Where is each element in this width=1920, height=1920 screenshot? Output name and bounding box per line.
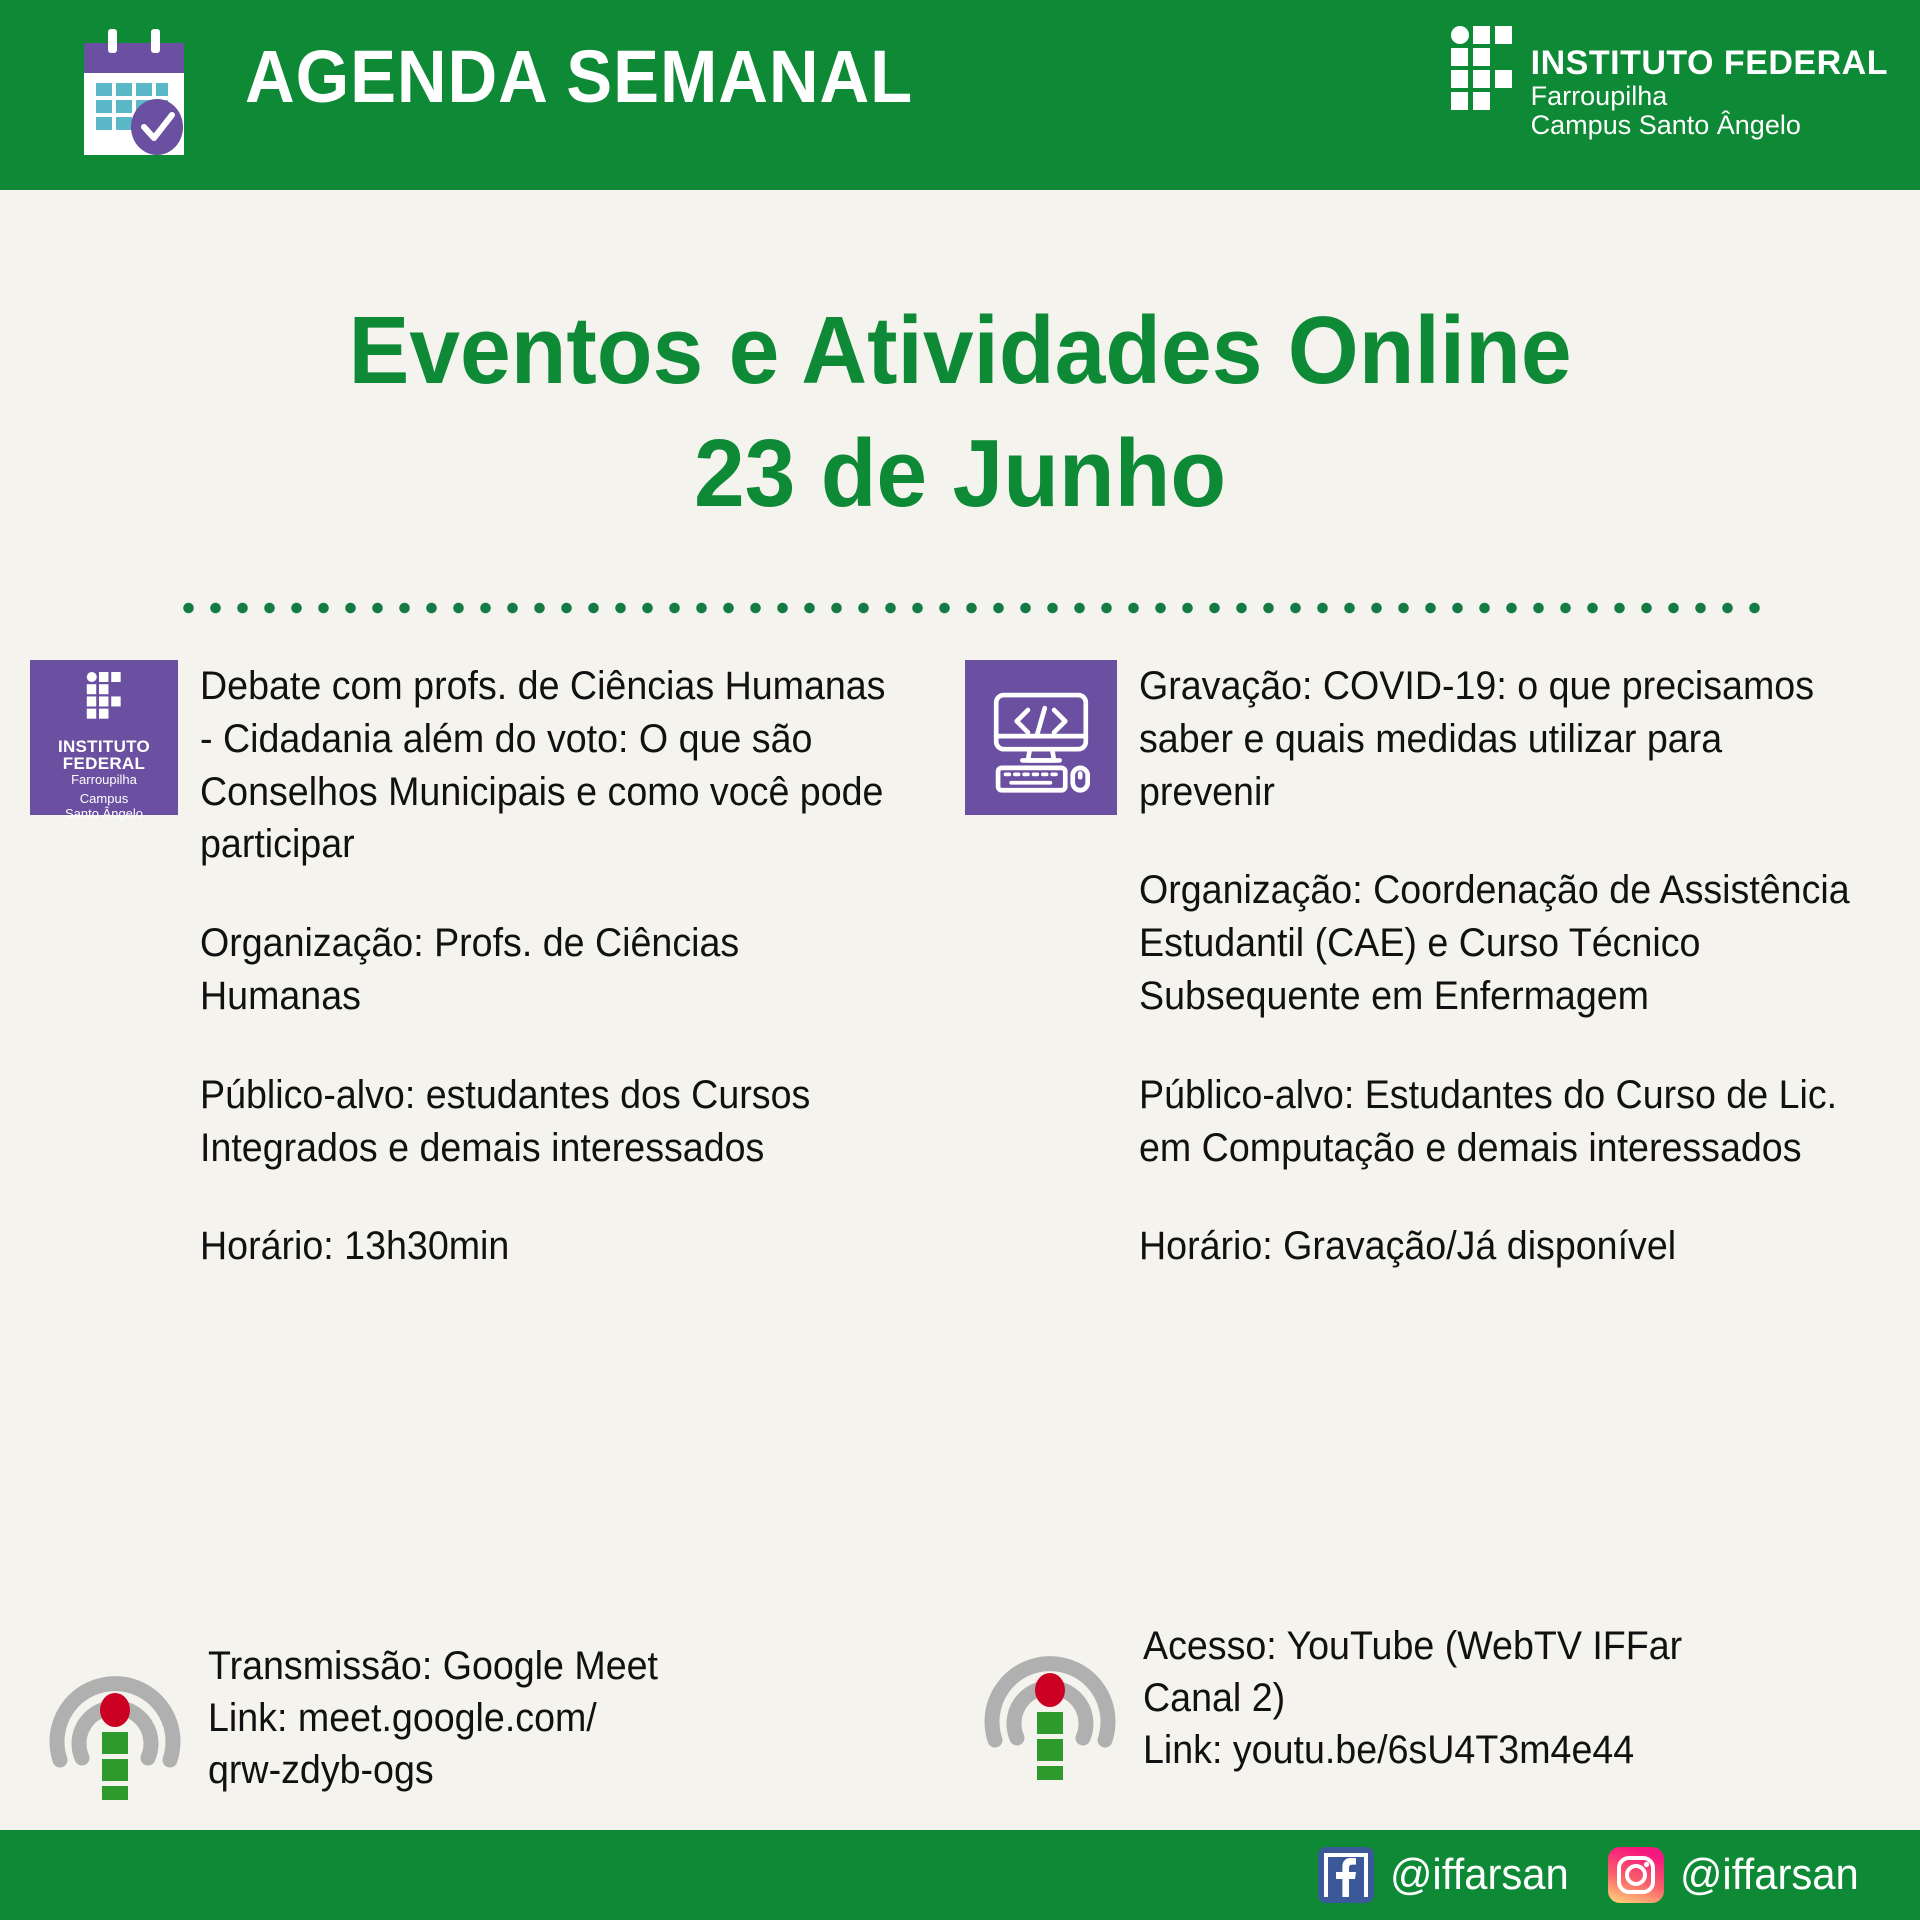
left-event-organization: Organização: Profs. de Ciências Humanas — [200, 917, 905, 1023]
page-footer: @iffarsan @iffarsan — [0, 1830, 1920, 1920]
page-title: AGENDA SEMANAL — [245, 34, 913, 119]
logo-line-campus: Campus Santo Ângelo — [1531, 112, 1888, 139]
left-broadcast-platform: Transmissão: Google Meet — [208, 1640, 866, 1692]
badge-line-instituto: INSTITUTO — [58, 738, 150, 755]
left-broadcast-details: Transmissão: Google Meet Link: meet.goog… — [208, 1640, 866, 1796]
right-broadcast-details: Acesso: YouTube (WebTV IFFar Canal 2) Li… — [1143, 1620, 1839, 1776]
badge-line-farroupilha: Farroupilha — [71, 773, 137, 787]
if-logo-mark-icon — [1451, 26, 1513, 134]
logo-line-farroupilha: Farroupilha — [1531, 83, 1888, 110]
instagram-social[interactable]: @iffarsan — [1608, 1847, 1868, 1903]
left-event-column: INSTITUTO FEDERAL Farroupilha Campus San… — [30, 660, 950, 1273]
logo-line-institute: INSTITUTO FEDERAL — [1531, 46, 1888, 80]
code-monitor-icon — [965, 660, 1117, 815]
if-logo-mark-icon — [78, 672, 130, 732]
left-event-details: Debate com profs. de Ciências Humanas - … — [200, 660, 905, 1273]
event-heading-line1: Eventos e Atividades Online — [48, 290, 1872, 413]
right-event-audience: Público-alvo: Estudantes do Curso de Lic… — [1139, 1069, 1850, 1175]
broadcast-signal-icon — [40, 1640, 190, 1800]
right-event-details: Gravação: COVID-19: o que precisamos sab… — [1139, 660, 1850, 1273]
left-event-title: Debate com profs. de Ciências Humanas - … — [200, 660, 905, 871]
facebook-social[interactable]: @iffarsan — [1318, 1847, 1578, 1903]
instagram-handle[interactable]: @iffarsan — [1680, 1850, 1859, 1900]
right-access-link[interactable]: Link: youtu.be/6sU4T3m4e44 — [1143, 1724, 1839, 1776]
if-campus-badge: INSTITUTO FEDERAL Farroupilha Campus San… — [30, 660, 178, 815]
badge-line-campus: Campus — [80, 792, 128, 807]
left-broadcast-link-code[interactable]: qrw-zdyb-ogs — [208, 1744, 866, 1796]
page-header: AGENDA SEMANAL INSTITUTO FEDERAL Farroup… — [0, 0, 1920, 190]
right-broadcast-block: Acesso: YouTube (WebTV IFFar Canal 2) Li… — [975, 1620, 1905, 1780]
right-event-entry: Gravação: COVID-19: o que precisamos sab… — [965, 660, 1895, 1273]
right-access-platform: Acesso: YouTube (WebTV IFFar — [1143, 1620, 1839, 1672]
calendar-check-icon — [78, 25, 190, 160]
left-broadcast-block: Transmissão: Google Meet Link: meet.goog… — [40, 1640, 940, 1800]
event-heading-line2: 23 de Junho — [48, 413, 1872, 536]
institution-logo-header: INSTITUTO FEDERAL Farroupilha Campus San… — [1451, 26, 1888, 139]
right-event-organization: Organização: Coordenação de Assistência … — [1139, 864, 1850, 1022]
right-event-column: Gravação: COVID-19: o que precisamos sab… — [965, 660, 1895, 1273]
broadcast-signal-icon — [975, 1620, 1125, 1780]
right-event-title: Gravação: COVID-19: o que precisamos sab… — [1139, 660, 1850, 818]
instagram-icon[interactable] — [1608, 1847, 1664, 1903]
left-event-schedule: Horário: 13h30min — [200, 1220, 905, 1273]
left-event-entry: INSTITUTO FEDERAL Farroupilha Campus San… — [30, 660, 950, 1273]
badge-line-city: Santo Ângelo — [65, 807, 143, 822]
dotted-divider — [175, 600, 1775, 616]
facebook-icon[interactable] — [1318, 1847, 1374, 1903]
badge-line-federal: FEDERAL — [63, 755, 145, 772]
right-event-schedule: Horário: Gravação/Já disponível — [1139, 1220, 1850, 1273]
left-broadcast-link-label[interactable]: Link: meet.google.com/ — [208, 1692, 866, 1744]
left-event-audience: Público-alvo: estudantes dos Cursos Inte… — [200, 1069, 905, 1175]
right-access-channel: Canal 2) — [1143, 1672, 1839, 1724]
event-heading: Eventos e Atividades Online 23 de Junho — [48, 290, 1872, 536]
facebook-handle[interactable]: @iffarsan — [1390, 1850, 1569, 1900]
